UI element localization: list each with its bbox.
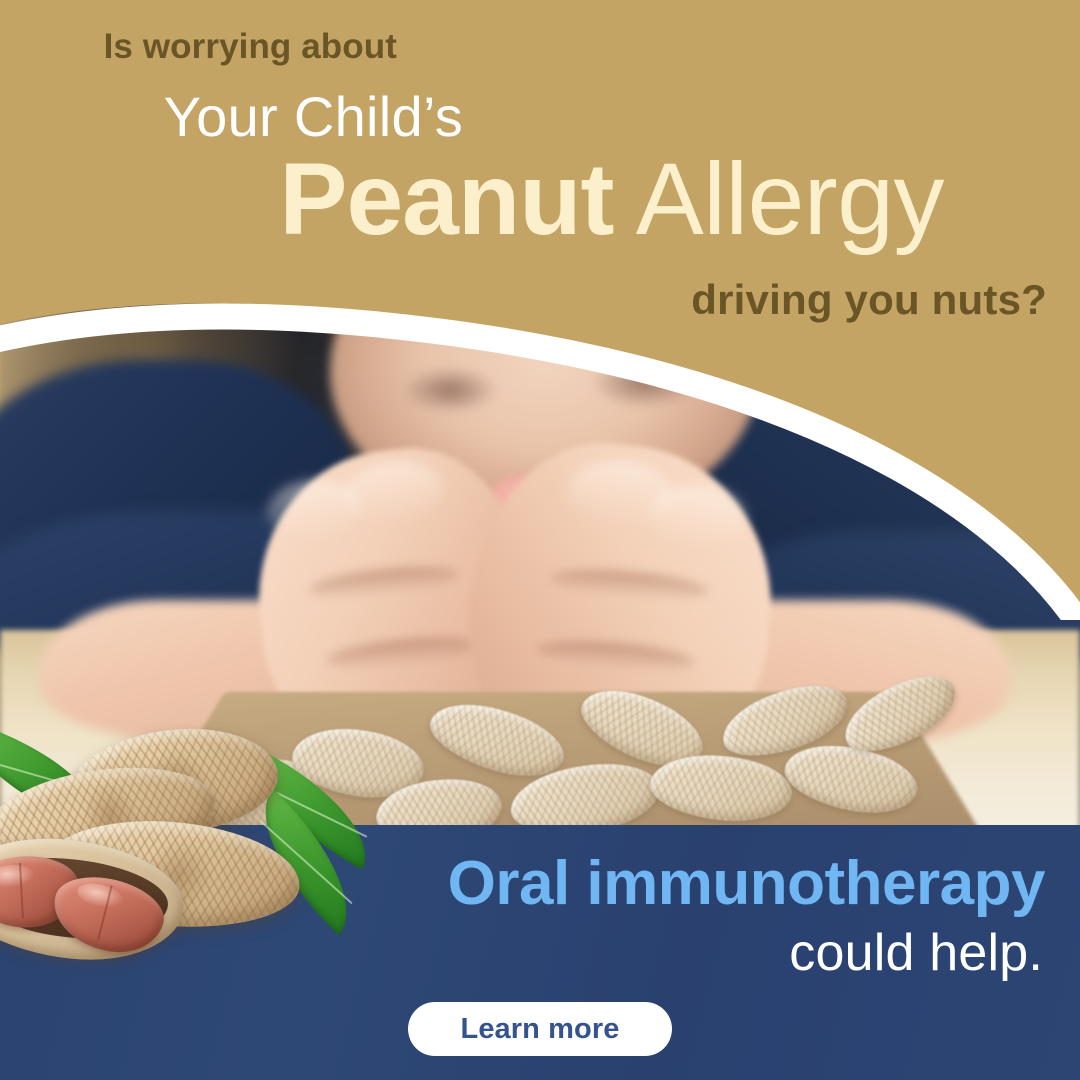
headline-emphasis-tail: Allergy: [614, 142, 945, 256]
headline-tagline: driving you nuts?: [0, 276, 1047, 324]
finger-crease: [308, 561, 460, 603]
headline-main-line: Peanut Allergy: [0, 148, 944, 250]
peanut-icon: [779, 735, 923, 824]
cta-headline-accent: Oral immunotherapy: [0, 848, 1045, 919]
cta-headline-rest: could help.: [0, 923, 1043, 983]
hero-photo: [0, 300, 1080, 860]
learn-more-button[interactable]: Learn more: [408, 1002, 672, 1056]
headline-block: Is worrying about Your Child’s Peanut Al…: [0, 0, 1080, 330]
headline-eyebrow: Is worrying about: [0, 27, 397, 67]
finger-crease: [550, 565, 710, 605]
headline-emphasis-word: Peanut: [279, 142, 613, 256]
finger-crease: [326, 632, 478, 674]
cta-panel: Oral immunotherapy could help. Learn mor…: [0, 825, 1080, 1080]
advertisement-creative: Is worrying about Your Child’s Peanut Al…: [0, 0, 1080, 1080]
headline-line-two: Your Child’s: [0, 84, 463, 149]
